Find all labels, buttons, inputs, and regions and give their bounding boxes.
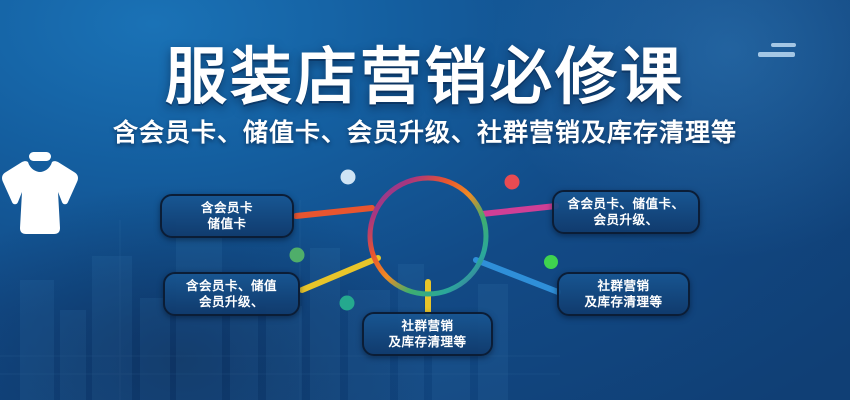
node-right-top[interactable]: 含会员卡、储值卡、 会员升级、 — [552, 190, 700, 234]
dot-teal-left-lower — [340, 296, 355, 311]
node-left-bottom[interactable]: 含会员卡、储值 会员升级、 — [163, 272, 300, 316]
node-left-top[interactable]: 含会员卡 储值卡 — [160, 194, 294, 238]
dot-red — [505, 175, 520, 190]
node-right-top-line2: 会员升级、 — [593, 212, 658, 228]
node-bottom-center[interactable]: 社群营销 及库存清理等 — [362, 312, 493, 356]
node-left-top-line2: 储值卡 — [207, 216, 246, 232]
page-subtitle: 含会员卡、储值卡、会员升级、社群营销及库存清理等 — [0, 118, 850, 148]
hub-spoke-diagram: 含会员卡 储值卡 含会员卡、储值 会员升级、 社群营销 及库存清理等 含会员卡、… — [0, 150, 850, 400]
diagram-connectors — [0, 150, 850, 400]
dot-green-right — [544, 255, 558, 269]
connector-left-bottom — [302, 258, 378, 290]
node-right-bottom-line2: 及库存清理等 — [584, 294, 662, 310]
node-bottom-center-line2: 及库存清理等 — [388, 334, 466, 350]
center-ring — [370, 178, 486, 294]
sweater-shirt-icon — [0, 150, 80, 236]
dot-green-left-upper — [290, 248, 305, 263]
decor-bar-top — [771, 43, 796, 47]
node-right-top-line1: 含会员卡、储值卡、 — [567, 196, 684, 212]
connector-left-top — [296, 208, 372, 216]
node-bottom-center-line1: 社群营销 — [401, 318, 453, 334]
promo-banner: 服装店营销必修课 含会员卡、储值卡、会员升级、社群营销及库存清理等 — [0, 0, 850, 400]
node-left-top-line1: 含会员卡 — [201, 200, 253, 216]
node-left-bottom-line1: 含会员卡、储值 — [186, 278, 277, 294]
dot-light-blue — [341, 170, 356, 185]
node-left-bottom-line2: 会员升级、 — [199, 294, 264, 310]
node-right-bottom-line1: 社群营销 — [597, 278, 649, 294]
connector-right-top — [482, 206, 556, 214]
decor-bar-bottom — [758, 52, 795, 57]
page-title: 服装店营销必修课 — [0, 44, 850, 112]
node-right-bottom[interactable]: 社群营销 及库存清理等 — [557, 272, 690, 316]
